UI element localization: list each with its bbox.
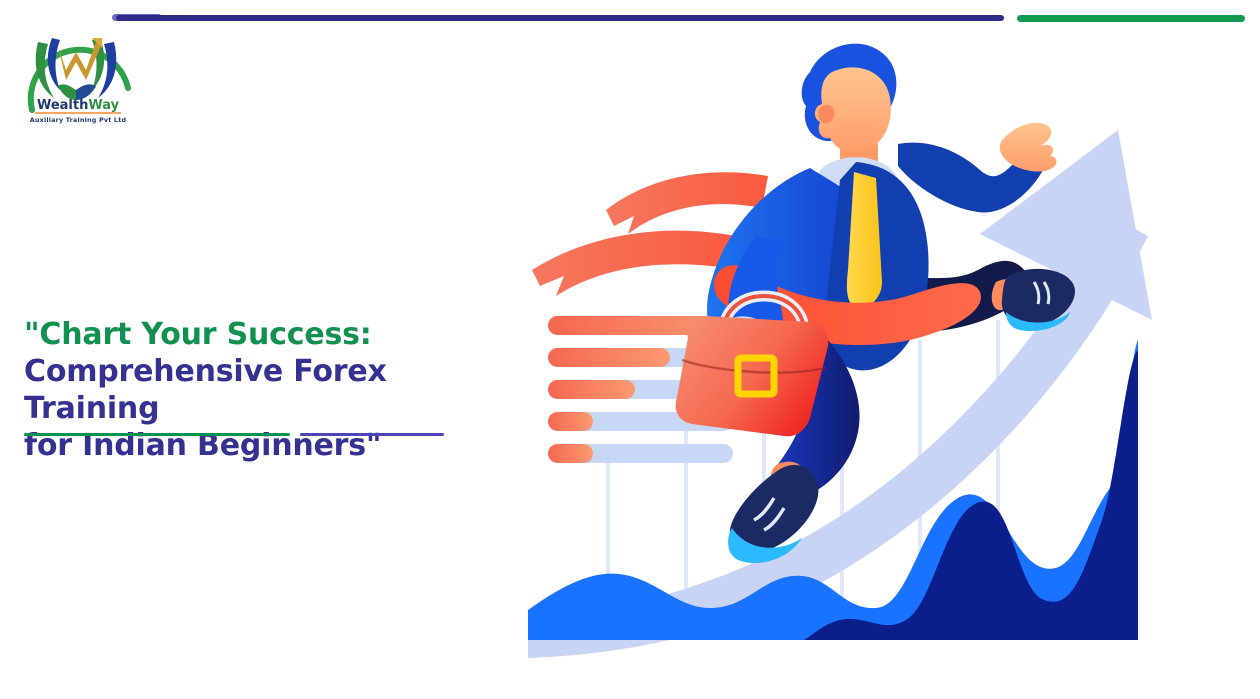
brand-tagline: Auxiliary Training Pvt Ltd	[30, 116, 127, 124]
title-underline-group	[24, 432, 444, 440]
progress-bar-3	[548, 380, 635, 399]
briefcase	[676, 316, 829, 436]
title-line-1: "Chart Your Success:	[24, 316, 494, 353]
progress-bar-4	[548, 412, 593, 431]
brand-name: WealthWay	[37, 98, 120, 113]
title-line-2: Comprehensive Forex Training	[24, 353, 494, 427]
logo-w-mark	[58, 38, 102, 80]
page-title: "Chart Your Success: Comprehensive Forex…	[24, 316, 494, 464]
running-businessman	[676, 44, 1075, 563]
logo-arc-inner-left	[48, 38, 60, 90]
progress-bar-5	[548, 444, 593, 463]
title-underline-green	[24, 433, 290, 436]
progress-bar-2	[548, 348, 670, 367]
brand-logo[interactable]: WealthWay Auxiliary Training Pvt Ltd	[8, 8, 148, 130]
hero-illustration	[510, 20, 1210, 680]
figure-rear-hand	[1000, 123, 1057, 172]
title-underline-indigo	[300, 433, 444, 436]
